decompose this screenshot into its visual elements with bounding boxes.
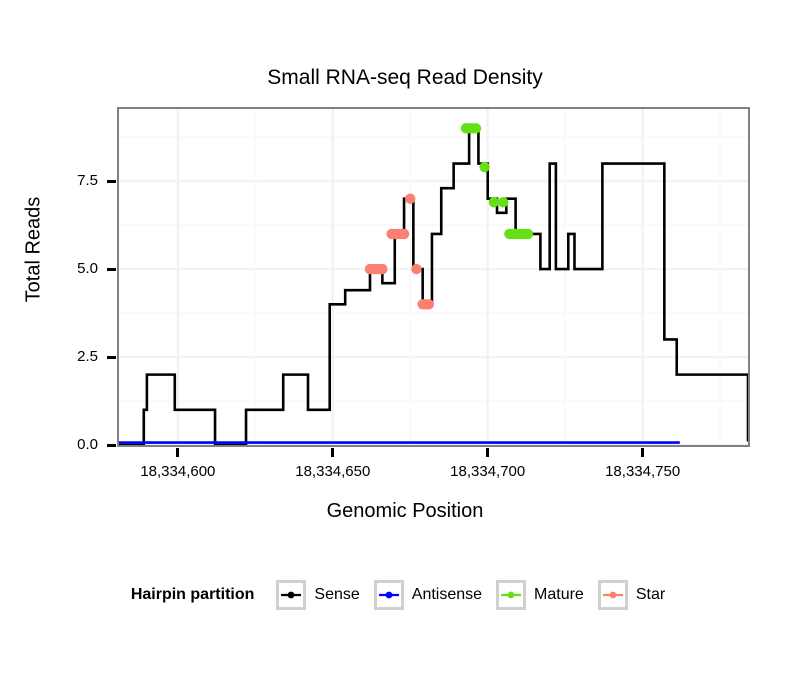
y-tick-label: 2.5 (52, 348, 98, 365)
legend-key-star-icon (598, 580, 628, 610)
plot-area (119, 109, 748, 445)
marker-mature (523, 229, 533, 239)
chart-legend: Hairpin partition SenseAntisenseMatureSt… (0, 580, 810, 610)
x-tick-mark (331, 448, 334, 457)
y-tick-label: 5.0 (52, 260, 98, 277)
legend-label-sense: Sense (314, 586, 359, 604)
legend-entry-antisense[interactable]: Antisense (374, 580, 482, 610)
marker-star (399, 229, 409, 239)
marker-star (405, 194, 415, 204)
x-axis-title: Genomic Position (0, 500, 810, 523)
legend-key-mature-icon (496, 580, 526, 610)
y-tick-mark (107, 356, 116, 359)
legend-entry-list: SenseAntisenseMatureStar (276, 580, 679, 610)
legend-label-antisense: Antisense (412, 586, 482, 604)
chart-title: Small RNA-seq Read Density (0, 66, 810, 90)
legend-key-sense-icon (276, 580, 306, 610)
plot-panel (117, 107, 750, 447)
chart-container: Small RNA-seq Read Density Total Reads 0… (0, 0, 810, 690)
y-tick-label: 7.5 (52, 172, 98, 189)
x-tick-label: 18,334,600 (113, 463, 243, 480)
marker-star (424, 299, 434, 309)
legend-label-mature: Mature (534, 586, 584, 604)
legend-label-star: Star (636, 586, 665, 604)
x-tick-mark (641, 448, 644, 457)
legend-entry-mature[interactable]: Mature (496, 580, 584, 610)
x-tick-label: 18,334,700 (423, 463, 553, 480)
y-tick-label: 0.0 (52, 436, 98, 453)
legend-key-antisense-icon (374, 580, 404, 610)
y-axis-title: Total Reads (23, 170, 46, 330)
marker-mature (471, 123, 481, 133)
x-tick-label: 18,334,750 (578, 463, 708, 480)
x-tick-label: 18,334,650 (268, 463, 398, 480)
marker-star (377, 264, 387, 274)
x-tick-mark (176, 448, 179, 457)
y-tick-mark (107, 180, 116, 183)
legend-entry-star[interactable]: Star (598, 580, 665, 610)
marker-star (411, 264, 421, 274)
legend-entry-sense[interactable]: Sense (276, 580, 359, 610)
y-tick-mark (107, 444, 116, 447)
y-tick-mark (107, 268, 116, 271)
marker-mature (479, 162, 489, 172)
marker-mature (489, 197, 499, 207)
legend-title: Hairpin partition (131, 586, 255, 604)
marker-mature (498, 197, 508, 207)
series-sense-line (119, 128, 748, 445)
x-tick-mark (486, 448, 489, 457)
